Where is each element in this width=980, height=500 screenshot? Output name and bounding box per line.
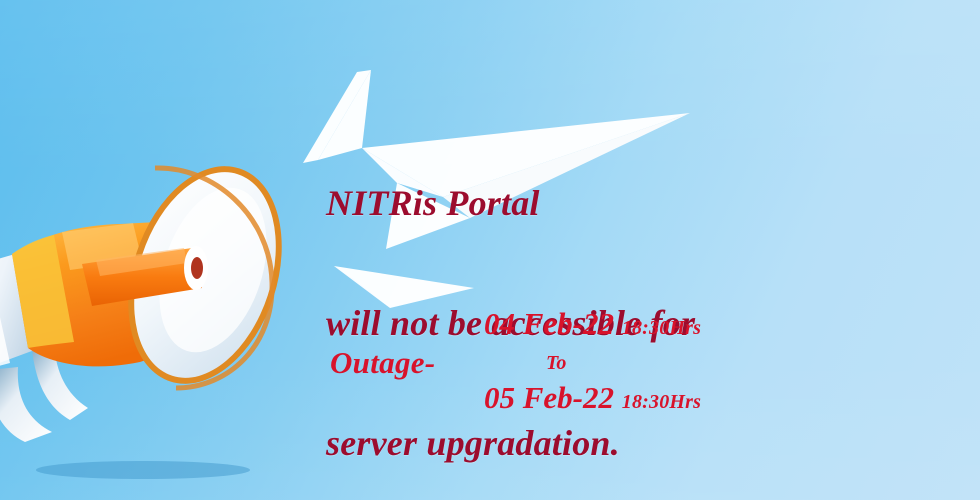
outage-end-date: 05 Feb-22 xyxy=(484,380,614,415)
schedule-separator: To xyxy=(546,349,904,377)
outage-end-time: 18:30Hrs xyxy=(622,391,701,413)
headline-line-1: NITRis Portal xyxy=(326,183,695,223)
headline-line-3: server upgradation. xyxy=(326,423,695,463)
outage-label: Outage- xyxy=(330,345,435,381)
megaphone-icon xyxy=(0,120,310,480)
page-title: NITRis Portal will not be accessible for… xyxy=(326,103,695,500)
announcement-banner: NITRis Portal will not be accessible for… xyxy=(0,0,980,500)
outage-start-date: 04 Feb-22 xyxy=(484,306,614,341)
outage-start: 04 Feb-22 18:30Hrs xyxy=(484,303,904,349)
outage-end: 05 Feb-22 18:30Hrs xyxy=(484,377,904,423)
outage-schedule: 04 Feb-22 18:30Hrs To 05 Feb-22 18:30Hrs xyxy=(484,303,904,423)
outage-start-time: 18:30Hrs xyxy=(622,317,701,339)
